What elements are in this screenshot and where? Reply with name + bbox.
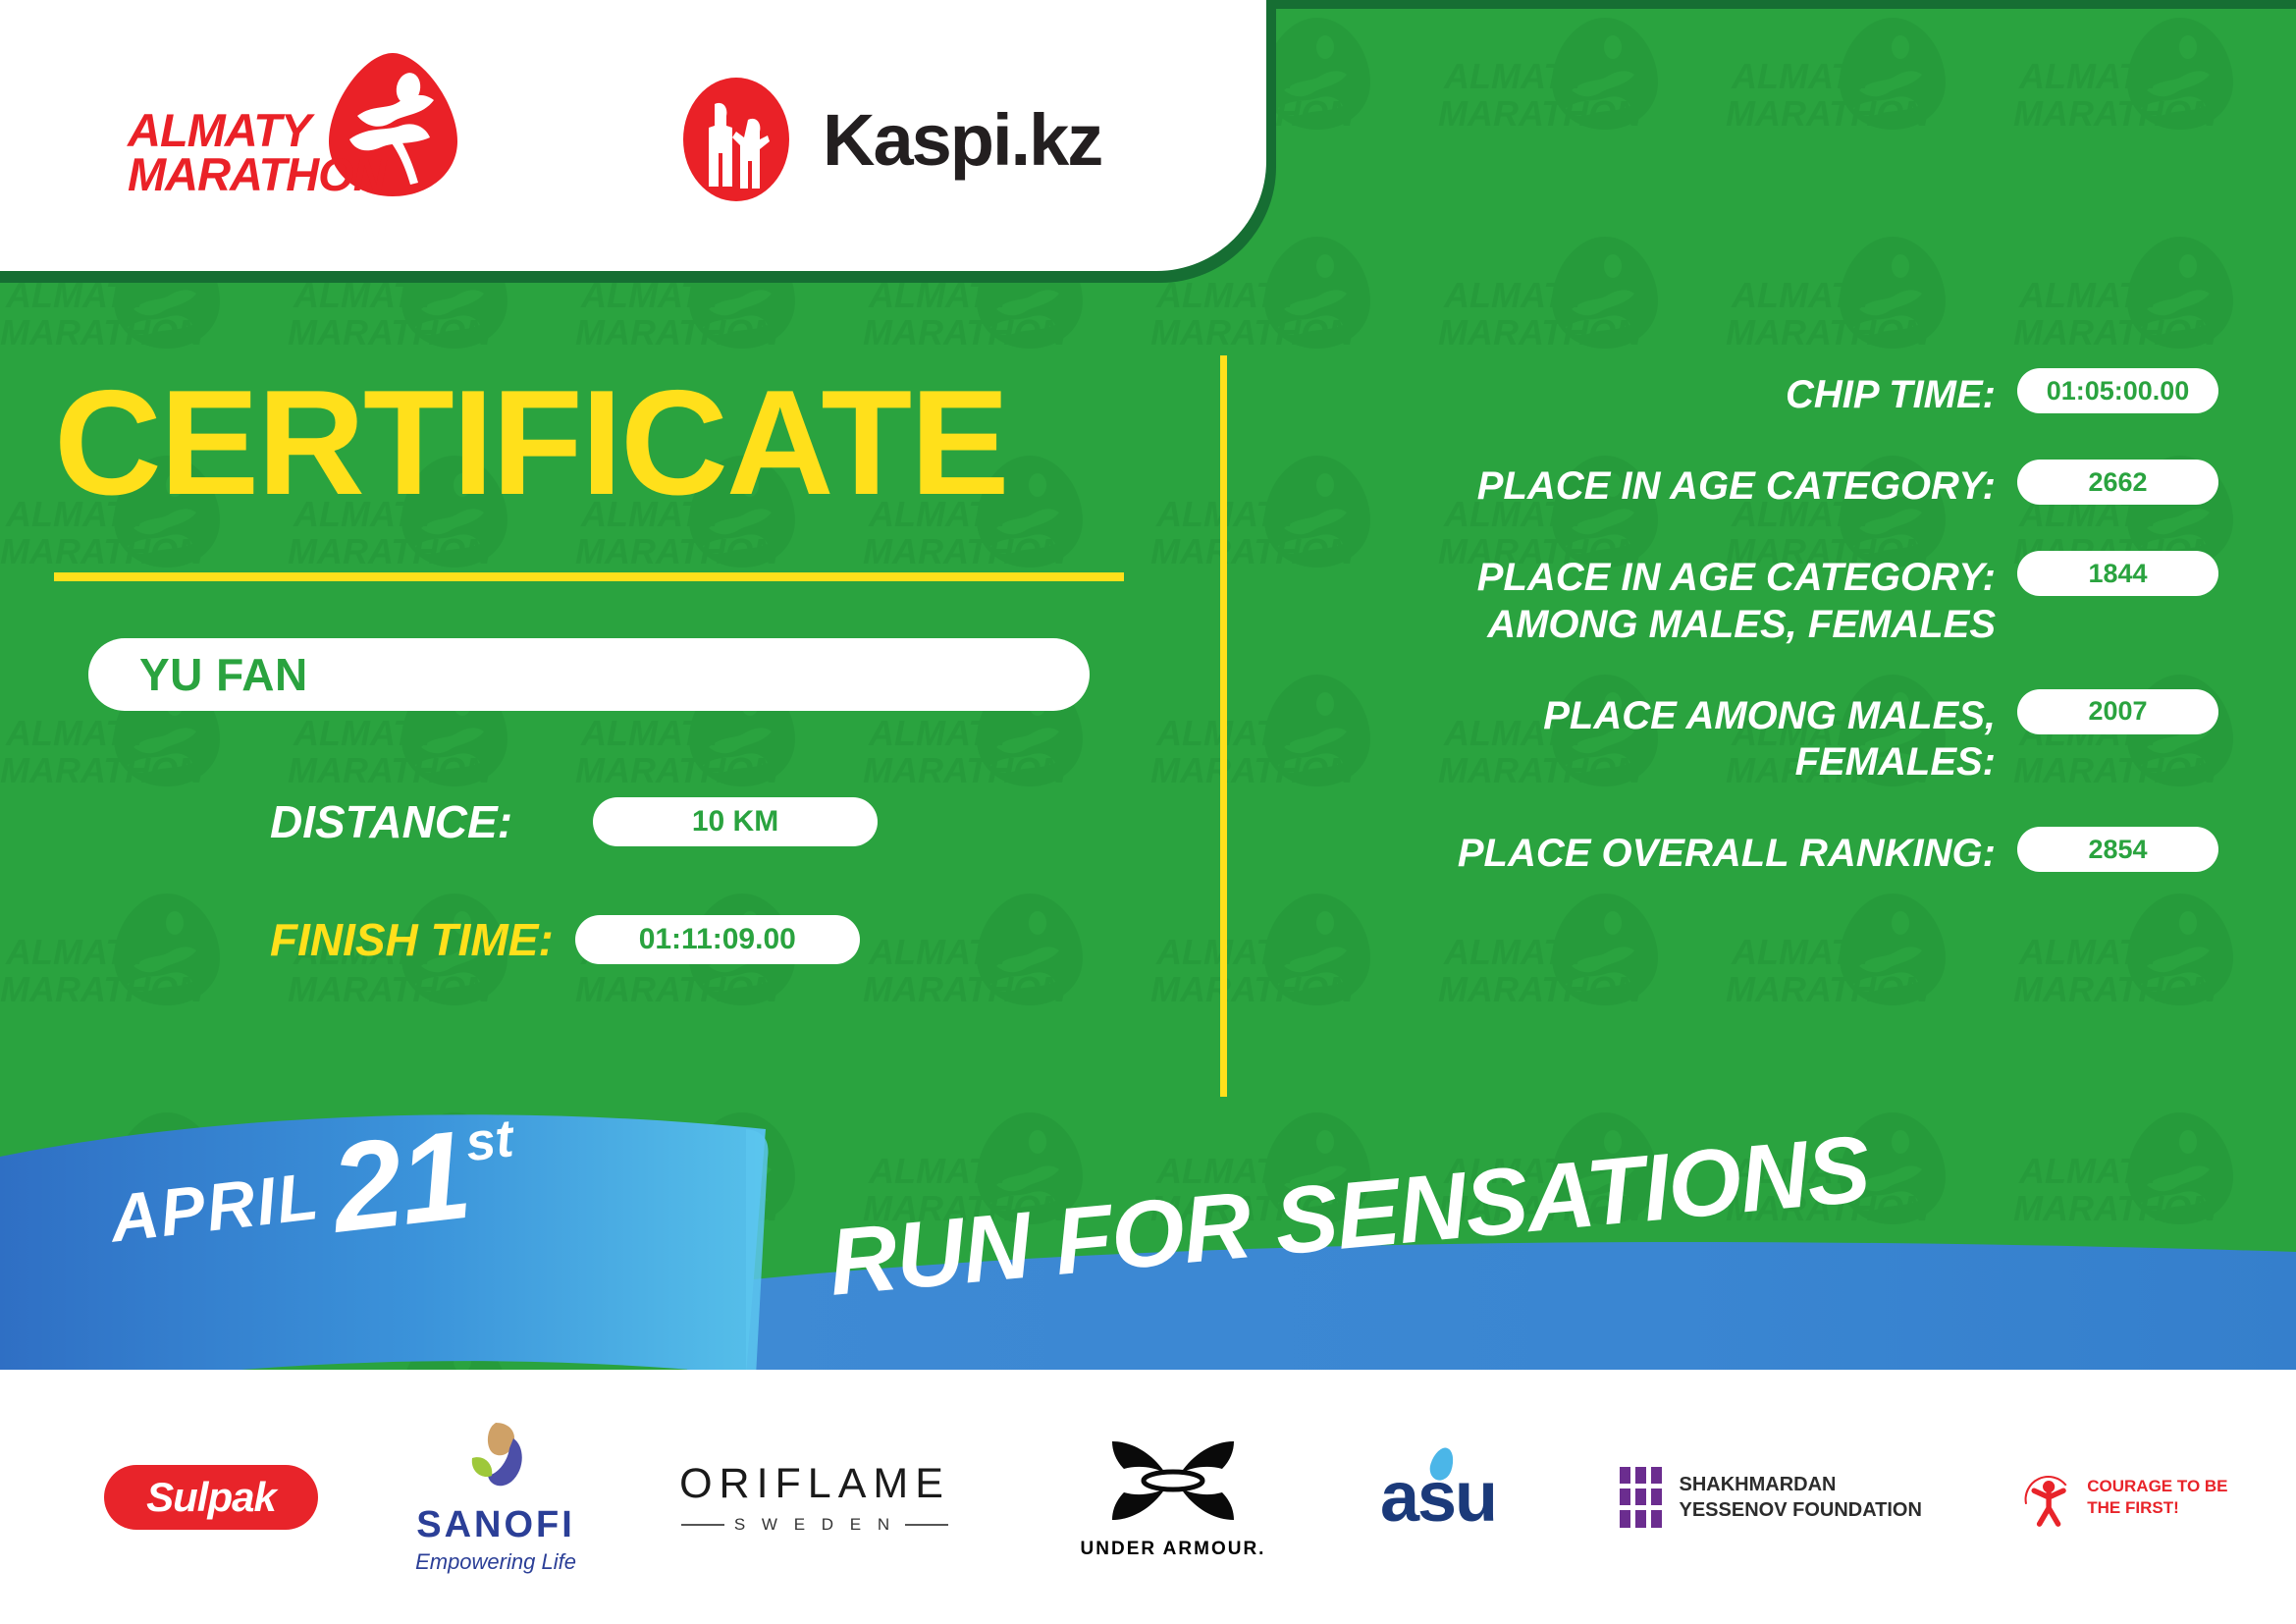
- stat-row-place-overall: PLACE OVERALL RANKING: 2854: [1276, 827, 2218, 877]
- finish-time-row: FINISH TIME: 01:11:09.00: [270, 913, 860, 966]
- stat-value-place-age-category-gender: 1844: [2017, 551, 2218, 596]
- sponsor-under-armour: UNDER ARMOUR.: [1060, 1370, 1286, 1624]
- oriflame-wordmark: ORIFLAME: [679, 1460, 950, 1508]
- courage-figure-icon: [2022, 1452, 2075, 1543]
- almaty-marathon-logo: ALMATY MARATHON: [128, 51, 452, 218]
- marathon-logo-line1: ALMATY: [128, 108, 393, 152]
- sanofi-tagline: Empowering Life: [415, 1549, 576, 1575]
- sponsor-oriflame: ORIFLAME S W E D E N: [667, 1370, 962, 1624]
- page-title: CERTIFICATE: [54, 368, 1134, 517]
- participant-name-field: YU FAN: [88, 638, 1090, 711]
- sponsor-asu: asu: [1345, 1370, 1531, 1624]
- stat-label-chip-time: CHIP TIME:: [1786, 368, 1996, 418]
- finish-time-value: 01:11:09.00: [575, 915, 860, 964]
- shakhmardan-wordmark: SHAKHMARDAN YESSENOV FOUNDATION: [1680, 1472, 1935, 1523]
- participant-name-value: YU FAN: [139, 648, 308, 701]
- stat-row-place-among-gender: PLACE AMONG MALES, FEMALES: 2007: [1276, 689, 2218, 785]
- marathon-logo-line2: MARATHON: [128, 152, 393, 196]
- sponsor-courage-fund: COURAGE TO BE THE FIRST!: [2022, 1370, 2248, 1624]
- distance-value: 10 KM: [593, 797, 878, 846]
- sulpak-logo: Sulpak: [104, 1465, 318, 1530]
- distance-label: DISTANCE:: [270, 795, 512, 848]
- header-content: ALMATY MARATHON Kaspi.kz: [0, 0, 1266, 271]
- stat-row-chip-time: CHIP TIME: 01:05:00.00: [1276, 368, 2218, 418]
- stat-row-place-age-category-gender: PLACE IN AGE CATEGORY: AMONG MALES, FEMA…: [1276, 551, 2218, 647]
- under-armour-wordmark: UNDER ARMOUR.: [1081, 1539, 1266, 1560]
- shakhmardan-bars-icon: [1620, 1467, 1662, 1528]
- sanofi-wordmark: SANOFI: [415, 1504, 576, 1546]
- distance-row: DISTANCE: 10 KM: [270, 795, 878, 848]
- stat-label-place-among-gender: PLACE AMONG MALES, FEMALES:: [1543, 689, 1996, 785]
- stat-label-place-age-category: PLACE IN AGE CATEGORY:: [1477, 460, 1996, 510]
- ribbon-day: 21: [327, 1120, 474, 1246]
- stat-value-place-overall: 2854: [2017, 827, 2218, 872]
- stat-label-place-overall: PLACE OVERALL RANKING:: [1458, 827, 1996, 877]
- stats-list: CHIP TIME: 01:05:00.00 PLACE IN AGE CATE…: [1276, 368, 2218, 918]
- stat-row-place-age-category: PLACE IN AGE CATEGORY: 2662: [1276, 460, 2218, 510]
- sanofi-icon: [453, 1419, 539, 1495]
- asu-wordmark: asu: [1380, 1457, 1496, 1538]
- kaspi-people-icon: [677, 77, 795, 202]
- oriflame-rule-right: [905, 1524, 948, 1526]
- kaspi-logo: Kaspi.kz: [677, 77, 1101, 202]
- sponsor-sanofi: SANOFI Empowering Life: [378, 1370, 614, 1624]
- stat-value-chip-time: 01:05:00.00: [2017, 368, 2218, 413]
- stat-value-place-age-category: 2662: [2017, 460, 2218, 505]
- title-underline: [54, 572, 1124, 581]
- under-armour-icon: [1104, 1434, 1242, 1528]
- courage-wordmark: COURAGE TO BE THE FIRST!: [2087, 1476, 2248, 1518]
- kaspi-wordmark: Kaspi.kz: [823, 98, 1101, 182]
- sponsor-sulpak: Sulpak: [79, 1370, 344, 1624]
- almaty-marathon-wordmark: ALMATY MARATHON: [128, 108, 393, 196]
- oriflame-tagline: S W E D E N: [734, 1515, 895, 1535]
- oriflame-rule-left: [681, 1524, 724, 1526]
- stat-value-place-among-gender: 2007: [2017, 689, 2218, 734]
- finish-time-label: FINISH TIME:: [270, 913, 554, 966]
- stat-label-place-age-category-gender: PLACE IN AGE CATEGORY: AMONG MALES, FEMA…: [1477, 551, 1996, 647]
- sponsor-bar: Sulpak SANOFI Empowering Life ORIFLAME S…: [0, 1370, 2296, 1624]
- vertical-divider: [1220, 355, 1227, 1097]
- sponsor-shakhmardan-yessenov: SHAKHMARDAN YESSENOV FOUNDATION: [1600, 1370, 1953, 1624]
